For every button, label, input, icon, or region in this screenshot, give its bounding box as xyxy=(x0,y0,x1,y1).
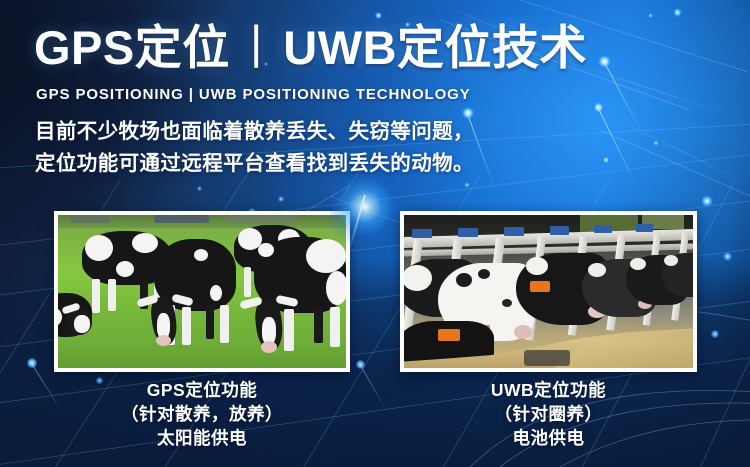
uwb-caption-line-1: UWB定位功能 xyxy=(400,378,697,402)
glow-dot-decoration xyxy=(648,13,653,18)
glow-dot-decoration xyxy=(375,12,382,19)
uwb-photo-frame xyxy=(400,211,697,372)
pasture-cows-photo xyxy=(58,215,346,368)
distant-object xyxy=(70,216,110,223)
comet-decoration xyxy=(593,102,713,222)
distant-object xyxy=(154,215,209,223)
uwb-caption-line-2: （针对圈养） xyxy=(400,402,697,426)
glow-dot-decoration xyxy=(711,330,719,338)
rail-clamp xyxy=(636,224,653,232)
promo-banner: GPS定位丨UWB定位技术 GPS POSITIONING | UWB POSI… xyxy=(0,0,750,467)
uwb-caption: UWB定位功能 （针对圈养） 电池供电 xyxy=(400,378,697,450)
ear-tag xyxy=(530,281,550,292)
barn-feeding-cows-photo xyxy=(404,215,693,368)
title-separator: 丨 xyxy=(230,21,284,74)
cow-head xyxy=(662,253,693,297)
description-text: 目前不少牧场也面临着散养丢失、失窃等问题， 定位功能可通过远程平台查看找到丢失的… xyxy=(35,116,474,180)
gps-caption-line-3: 太阳能供电 xyxy=(54,426,350,450)
title-uwb-part: UWB定位技术 xyxy=(283,21,587,74)
description-line-2: 定位功能可通过远程平台查看找到丢失的动物。 xyxy=(35,148,474,180)
gps-caption-line-2: （针对散养，放养） xyxy=(54,402,350,426)
rail-clamp xyxy=(594,225,612,233)
comet-decoration xyxy=(462,107,582,227)
rail-clamp xyxy=(458,228,478,237)
glow-dot-decoration xyxy=(197,186,202,191)
rail-clamp xyxy=(550,226,569,235)
gps-photo-frame xyxy=(54,211,350,372)
uwb-caption-line-3: 电池供电 xyxy=(400,426,697,450)
glow-dot-decoration xyxy=(673,8,682,17)
title-gps-part: GPS定位 xyxy=(34,21,230,74)
glow-dot-decoration xyxy=(278,196,284,202)
distant-object xyxy=(226,216,296,223)
gps-caption: GPS定位功能 （针对散养，放养） 太阳能供电 xyxy=(54,378,350,450)
cow-figure xyxy=(154,239,236,311)
glow-dot-decoration xyxy=(723,252,732,261)
rail-clamp xyxy=(412,229,432,238)
description-line-1: 目前不少牧场也面临着散养丢失、失窃等问题， xyxy=(35,116,474,148)
feed-shadow xyxy=(524,350,570,366)
cow-figure xyxy=(254,237,346,313)
cow-figure xyxy=(58,293,92,337)
page-title: GPS定位丨UWB定位技术 xyxy=(34,24,587,71)
rail-clamp xyxy=(504,227,524,236)
gps-caption-line-1: GPS定位功能 xyxy=(54,378,350,402)
page-subtitle: GPS POSITIONING | UWB POSITIONING TECHNO… xyxy=(36,86,471,103)
ear-tag xyxy=(438,329,460,341)
